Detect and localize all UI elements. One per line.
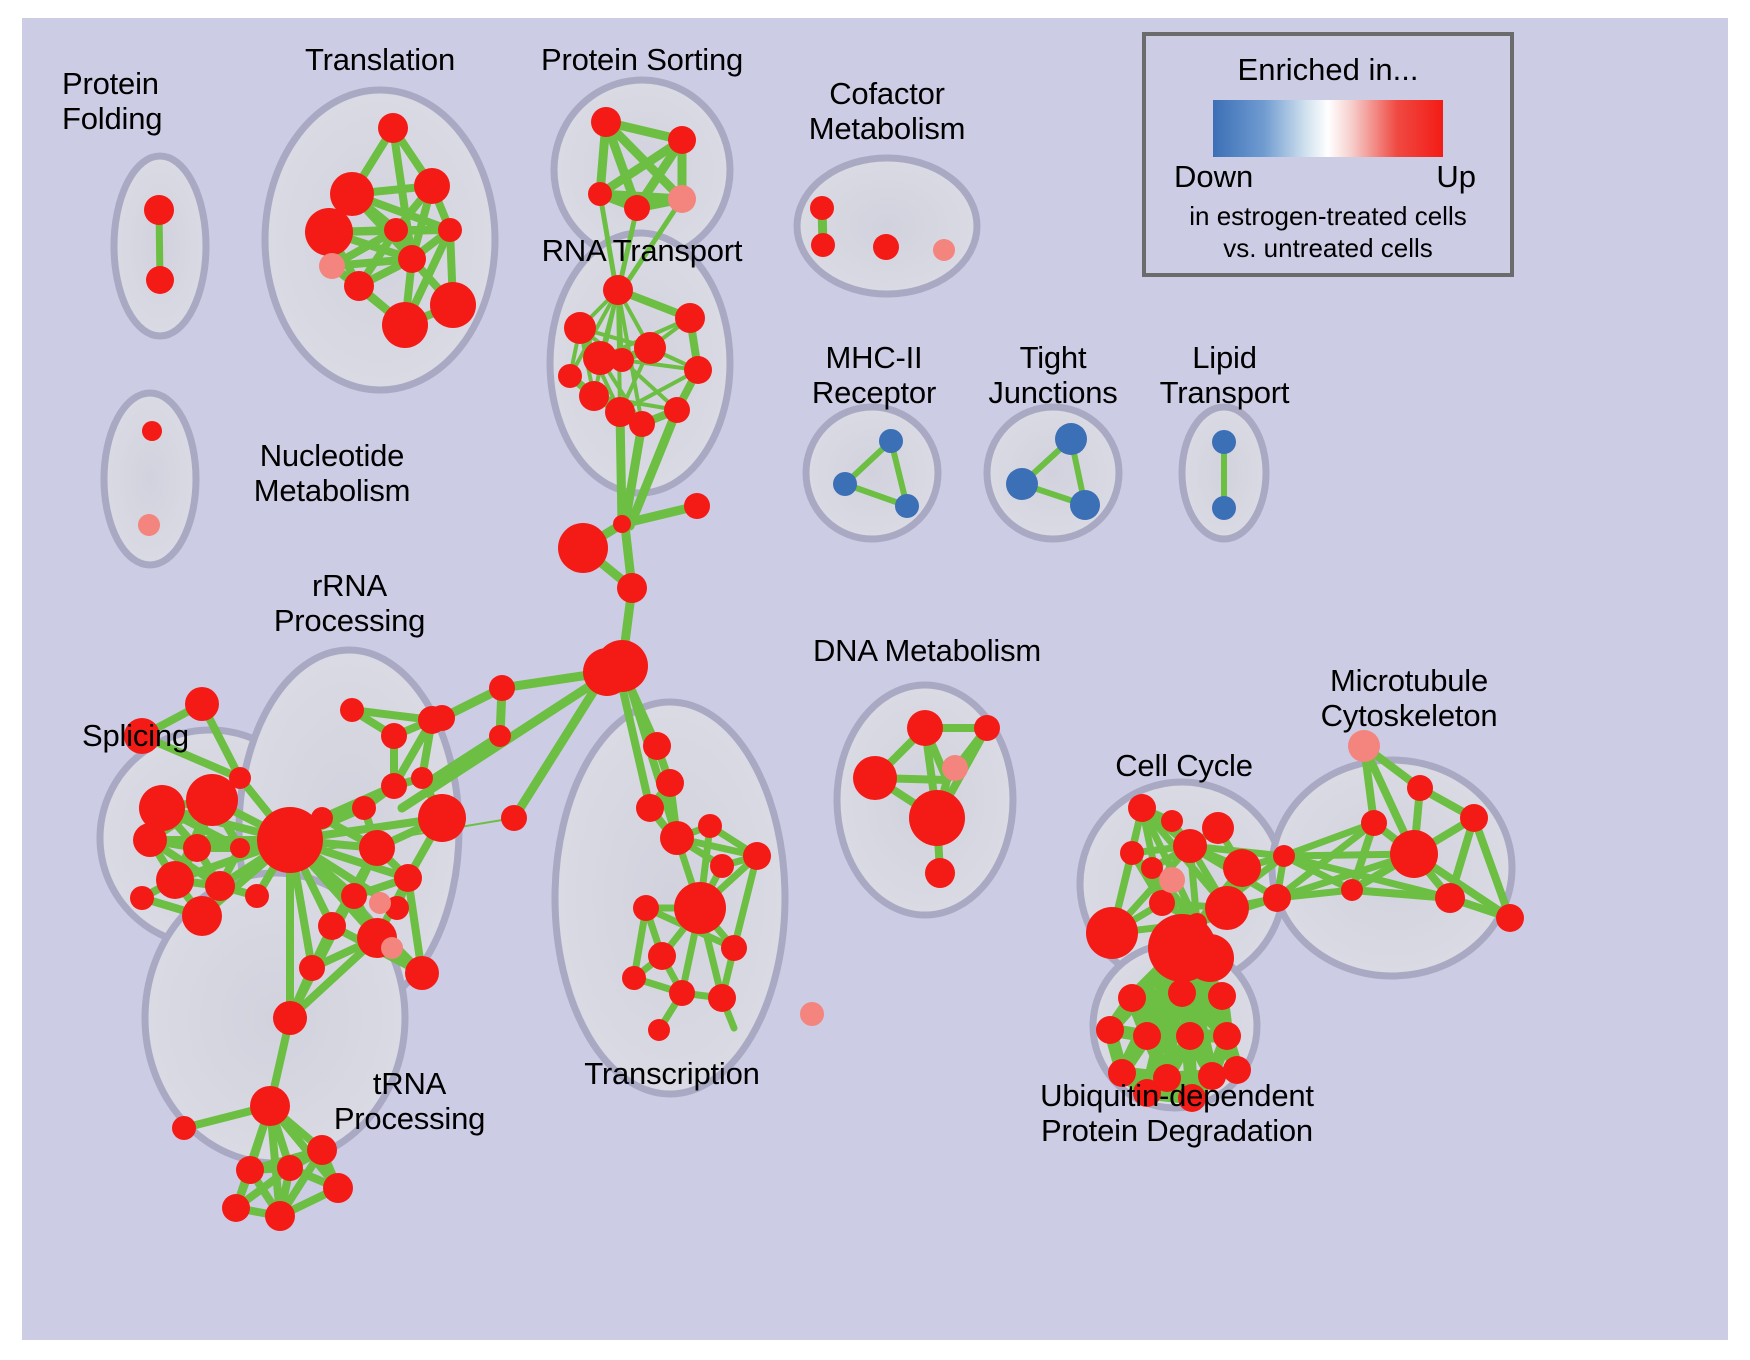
node — [489, 675, 515, 701]
node — [617, 573, 647, 603]
cluster-label-nucleotide: Nucleotide Metabolism — [202, 438, 462, 508]
node — [1186, 934, 1234, 982]
node — [359, 830, 395, 866]
node — [588, 182, 612, 206]
node-down — [1006, 468, 1038, 500]
node — [186, 774, 238, 826]
node — [668, 126, 696, 154]
node — [1205, 886, 1249, 930]
node — [245, 884, 269, 908]
node — [382, 302, 428, 348]
node — [411, 767, 433, 789]
node-down — [1212, 496, 1236, 520]
node — [708, 984, 736, 1012]
node-mid — [942, 755, 968, 781]
node — [394, 864, 422, 892]
node — [710, 854, 734, 878]
node — [144, 195, 174, 225]
node — [130, 886, 154, 910]
node-mid — [1159, 867, 1185, 893]
legend-panel: Enriched in... Down Up in estrogen-treat… — [1142, 32, 1514, 277]
cluster-label-protein-sorting: Protein Sorting — [502, 42, 782, 77]
cluster-label-protein-folding: Protein Folding — [62, 66, 262, 136]
cluster-label-translation: Translation — [260, 42, 500, 77]
node-down — [1070, 490, 1100, 520]
figure-root: Protein Folding Translation Protein Sort… — [0, 0, 1750, 1360]
cluster-label-ubiquitin: Ubiquitin-dependent Protein Degradation — [972, 1078, 1382, 1148]
node — [1390, 830, 1438, 878]
node — [381, 723, 407, 749]
node — [873, 234, 899, 260]
node — [156, 861, 194, 899]
node — [624, 195, 650, 221]
node-down — [1212, 430, 1236, 454]
node — [1460, 804, 1488, 832]
network-canvas: Protein Folding Translation Protein Sort… — [22, 18, 1728, 1340]
node — [974, 715, 1000, 741]
node — [1496, 904, 1524, 932]
node — [305, 208, 353, 256]
node — [675, 303, 705, 333]
node — [664, 397, 690, 423]
node — [257, 807, 323, 873]
node — [907, 710, 943, 746]
node — [341, 883, 367, 909]
node-mid — [369, 892, 391, 914]
node — [1133, 1022, 1161, 1050]
node — [684, 356, 712, 384]
node-down — [1055, 423, 1087, 455]
node-down — [895, 494, 919, 518]
node — [558, 523, 608, 573]
node — [610, 348, 634, 372]
node — [381, 773, 407, 799]
node — [591, 107, 621, 137]
node — [1161, 810, 1183, 832]
cluster-label-mhc: MHC-II Receptor — [774, 340, 974, 410]
node — [340, 698, 364, 722]
node — [146, 266, 174, 294]
node — [1208, 982, 1236, 1010]
cluster-label-microtubule: Microtubule Cytoskeleton — [1294, 663, 1524, 733]
node — [1202, 812, 1234, 844]
node — [501, 805, 527, 831]
cluster-label-lipid-transport: Lipid Transport — [1132, 340, 1317, 410]
node-mid — [800, 1002, 824, 1026]
node-mid — [668, 185, 696, 213]
legend-endpoints: Down Up — [1170, 159, 1486, 199]
node — [277, 1155, 303, 1181]
node — [378, 113, 408, 143]
node — [273, 1001, 307, 1035]
node — [909, 790, 965, 846]
cluster-label-transcription: Transcription — [552, 1056, 792, 1091]
node — [629, 411, 655, 437]
node — [429, 705, 455, 731]
node — [1096, 1016, 1124, 1044]
cluster-label-rna-transport: RNA Transport — [502, 233, 782, 268]
node — [636, 794, 664, 822]
node — [236, 1156, 264, 1184]
node — [622, 966, 646, 990]
hull-tight-junctions — [987, 407, 1119, 539]
node — [648, 942, 676, 970]
node — [721, 935, 747, 961]
node — [1141, 857, 1163, 879]
node — [185, 687, 219, 721]
node — [853, 756, 897, 800]
node — [564, 312, 596, 344]
cluster-label-cell-cycle: Cell Cycle — [1084, 748, 1284, 783]
node — [430, 282, 476, 328]
node — [1176, 1022, 1204, 1050]
node — [172, 1116, 196, 1140]
node — [489, 725, 511, 747]
node — [925, 858, 955, 888]
hull-transcription — [555, 702, 785, 1094]
node — [684, 493, 710, 519]
legend-colorbar — [1213, 100, 1443, 157]
node — [142, 421, 162, 441]
node-mid — [381, 937, 403, 959]
node — [634, 332, 666, 364]
node — [558, 364, 582, 388]
node — [265, 1201, 295, 1231]
node — [352, 796, 376, 820]
node — [811, 233, 835, 257]
node — [222, 1194, 250, 1222]
node — [1213, 1022, 1241, 1050]
node — [183, 834, 211, 862]
cluster-label-rrna: rRNA Processing — [242, 568, 457, 638]
node — [384, 218, 408, 242]
cluster-label-tight-junctions: Tight Junctions — [958, 340, 1148, 410]
cluster-label-splicing: Splicing — [48, 718, 223, 753]
legend-high-label: Up — [1436, 159, 1476, 195]
node — [323, 1173, 353, 1203]
legend-low-label: Down — [1174, 159, 1253, 195]
node — [1263, 884, 1291, 912]
node — [643, 732, 671, 760]
node — [398, 245, 426, 273]
node — [250, 1086, 290, 1126]
node — [1168, 979, 1196, 1007]
node — [656, 769, 684, 797]
legend-caption-line1: in estrogen-treated cells — [1146, 201, 1510, 231]
node — [810, 196, 834, 220]
node — [633, 895, 659, 921]
node — [205, 871, 235, 901]
node — [438, 218, 462, 242]
node — [1149, 890, 1175, 916]
node — [669, 980, 695, 1006]
node — [603, 275, 633, 305]
node — [1223, 849, 1261, 887]
node-down — [879, 429, 903, 453]
node — [1435, 883, 1465, 913]
node — [344, 271, 374, 301]
node — [1118, 984, 1146, 1012]
node — [318, 912, 346, 940]
node — [1086, 907, 1138, 959]
legend-title: Enriched in... — [1146, 52, 1510, 88]
hull-mhc — [806, 407, 938, 539]
node — [1120, 841, 1144, 865]
node — [579, 381, 609, 411]
node — [133, 823, 167, 857]
node — [307, 1135, 337, 1165]
node-down — [833, 472, 857, 496]
node — [613, 515, 631, 533]
node — [1341, 879, 1363, 901]
node — [648, 1019, 670, 1041]
node — [1273, 845, 1295, 867]
legend-caption-line2: vs. untreated cells — [1146, 233, 1510, 263]
node — [743, 842, 771, 870]
cluster-label-trna: tRNA Processing — [302, 1066, 517, 1136]
cluster-label-dna-metabolism: DNA Metabolism — [802, 633, 1052, 668]
node — [1128, 794, 1156, 822]
cluster-label-cofactor: Cofactor Metabolism — [782, 76, 992, 146]
node-mid — [933, 239, 955, 261]
node-mid — [319, 253, 345, 279]
node — [660, 821, 694, 855]
node — [583, 648, 631, 696]
node — [230, 838, 250, 858]
node — [418, 794, 466, 842]
node — [299, 955, 325, 981]
node — [1407, 775, 1433, 801]
node — [182, 896, 222, 936]
node-mid — [1348, 730, 1380, 762]
node — [674, 882, 726, 934]
node-mid — [138, 514, 160, 536]
node — [405, 956, 439, 990]
node — [698, 814, 722, 838]
node — [1361, 810, 1387, 836]
hull-nucleotide — [104, 393, 196, 565]
node — [1173, 829, 1207, 863]
node — [414, 168, 450, 204]
